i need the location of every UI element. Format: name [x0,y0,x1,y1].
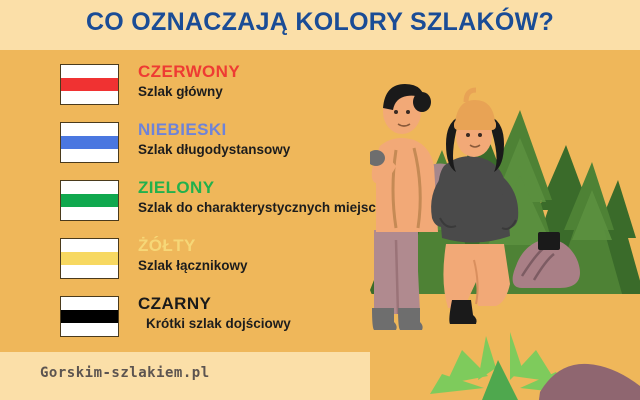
color-name-blue: NIEBIESKI [138,120,290,140]
legend-item-black: CZARNY Krótki szlak dojściowy [60,294,390,352]
color-desc-yellow: Szlak łącznikowy [138,257,248,275]
infographic-poster: CO OZNACZAJĄ KOLORY SZLAKÓW? CZERWONY Sz… [0,0,640,400]
legend-item-green: ZIELONY Szlak do charakterystycznych mie… [60,178,390,236]
trail-marker-yellow-icon [60,238,119,279]
legend-item-yellow: ŻÓŁTY Szlak łącznikowy [60,236,390,294]
legend-item-blue: NIEBIESKI Szlak długodystansowy [60,120,390,178]
color-name-red: CZERWONY [138,62,240,82]
legend-item-red: CZERWONY Szlak główny [60,62,390,120]
site-credit: Gorskim-szlakiem.pl [40,365,210,381]
trail-marker-green-icon [60,180,119,221]
color-name-black: CZARNY [138,294,291,314]
trail-color-legend: CZERWONY Szlak główny NIEBIESKI Szlak dł… [60,62,390,352]
color-desc-red: Szlak główny [138,83,240,101]
color-desc-blue: Szlak długodystansowy [138,141,290,159]
page-title: CO OZNACZAJĄ KOLORY SZLAKÓW? [0,8,640,37]
hikers-forest-illustration [370,50,640,400]
color-desc-black: Krótki szlak dojściowy [138,315,291,333]
color-name-green: ZIELONY [138,178,376,198]
trail-marker-black-icon [60,296,119,337]
color-desc-green: Szlak do charakterystycznych miejsc [138,199,376,217]
color-name-yellow: ŻÓŁTY [138,236,248,256]
trail-marker-red-icon [60,64,119,105]
trail-marker-blue-icon [60,122,119,163]
